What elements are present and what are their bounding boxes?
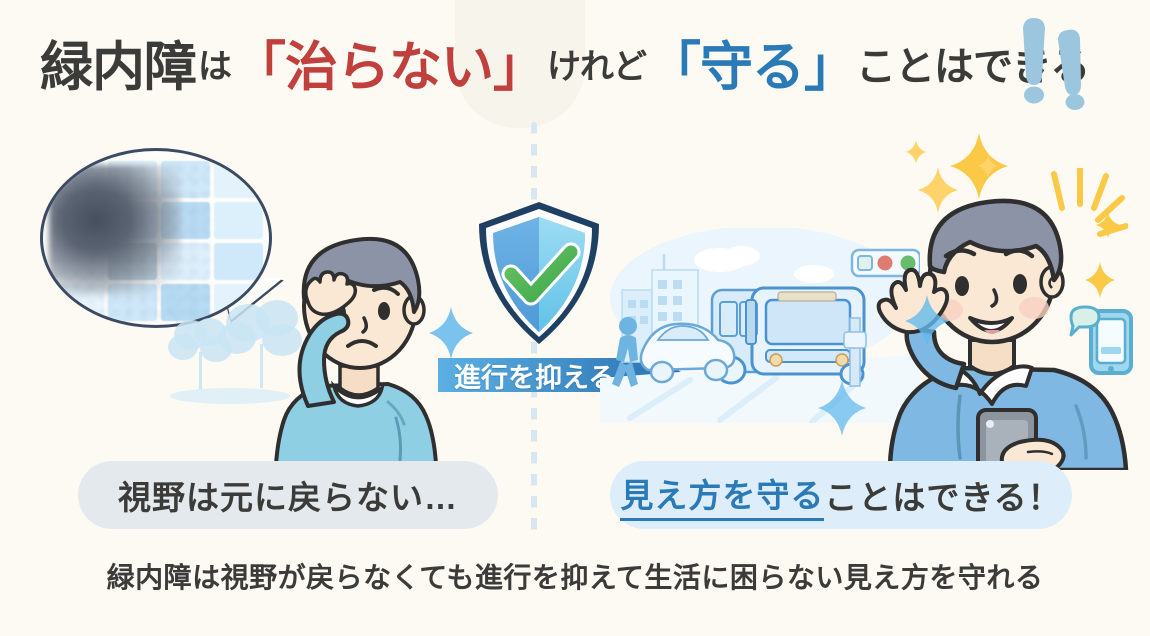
radiating-lines-icon xyxy=(1036,168,1128,260)
scotoma-dark-region xyxy=(49,165,181,295)
right-caption-highlight: 見え方を守る xyxy=(620,469,824,521)
sparkle-icon xyxy=(918,167,958,213)
smartphone-chat-icon xyxy=(1063,303,1139,383)
title-phrase-protect: 「守る」 xyxy=(648,25,856,101)
title-term-glaucoma: 緑内障 xyxy=(40,25,196,101)
sparkle-icon xyxy=(978,154,998,178)
summary-text: 緑内障は視野が戻らなくても進行を抑えて生活に困らない見え方を守れる xyxy=(0,556,1150,596)
sparkle-icon xyxy=(1085,262,1115,298)
page-title: 緑内障 は 「治らない」 けれど 「守る」 ことはできる xyxy=(40,24,1110,102)
infographic-canvas: 緑内障 は 「治らない」 けれど 「守る」 ことはできる xyxy=(0,0,1150,636)
title-phrase-not-curable: 「治らない」 xyxy=(233,25,545,101)
right-caption-pill: 見え方を守る ことはできる！ xyxy=(610,461,1072,529)
title-conjunction: けれど xyxy=(545,39,648,88)
sparkle-icon xyxy=(905,295,949,347)
arrow-label: 進行を抑える xyxy=(454,356,615,395)
sparkle-icon xyxy=(906,140,926,164)
left-caption-pill: 視野は元に戻らない… xyxy=(78,461,498,529)
sparkle-icon xyxy=(818,380,866,436)
left-caption-text: 視野は元に戻らない… xyxy=(118,471,458,519)
shield-check-icon xyxy=(473,198,605,348)
right-caption-rest: ことはできる！ xyxy=(824,471,1061,519)
title-particle-wa: は xyxy=(196,39,233,88)
double-exclamation-mark-icon xyxy=(1012,10,1108,110)
